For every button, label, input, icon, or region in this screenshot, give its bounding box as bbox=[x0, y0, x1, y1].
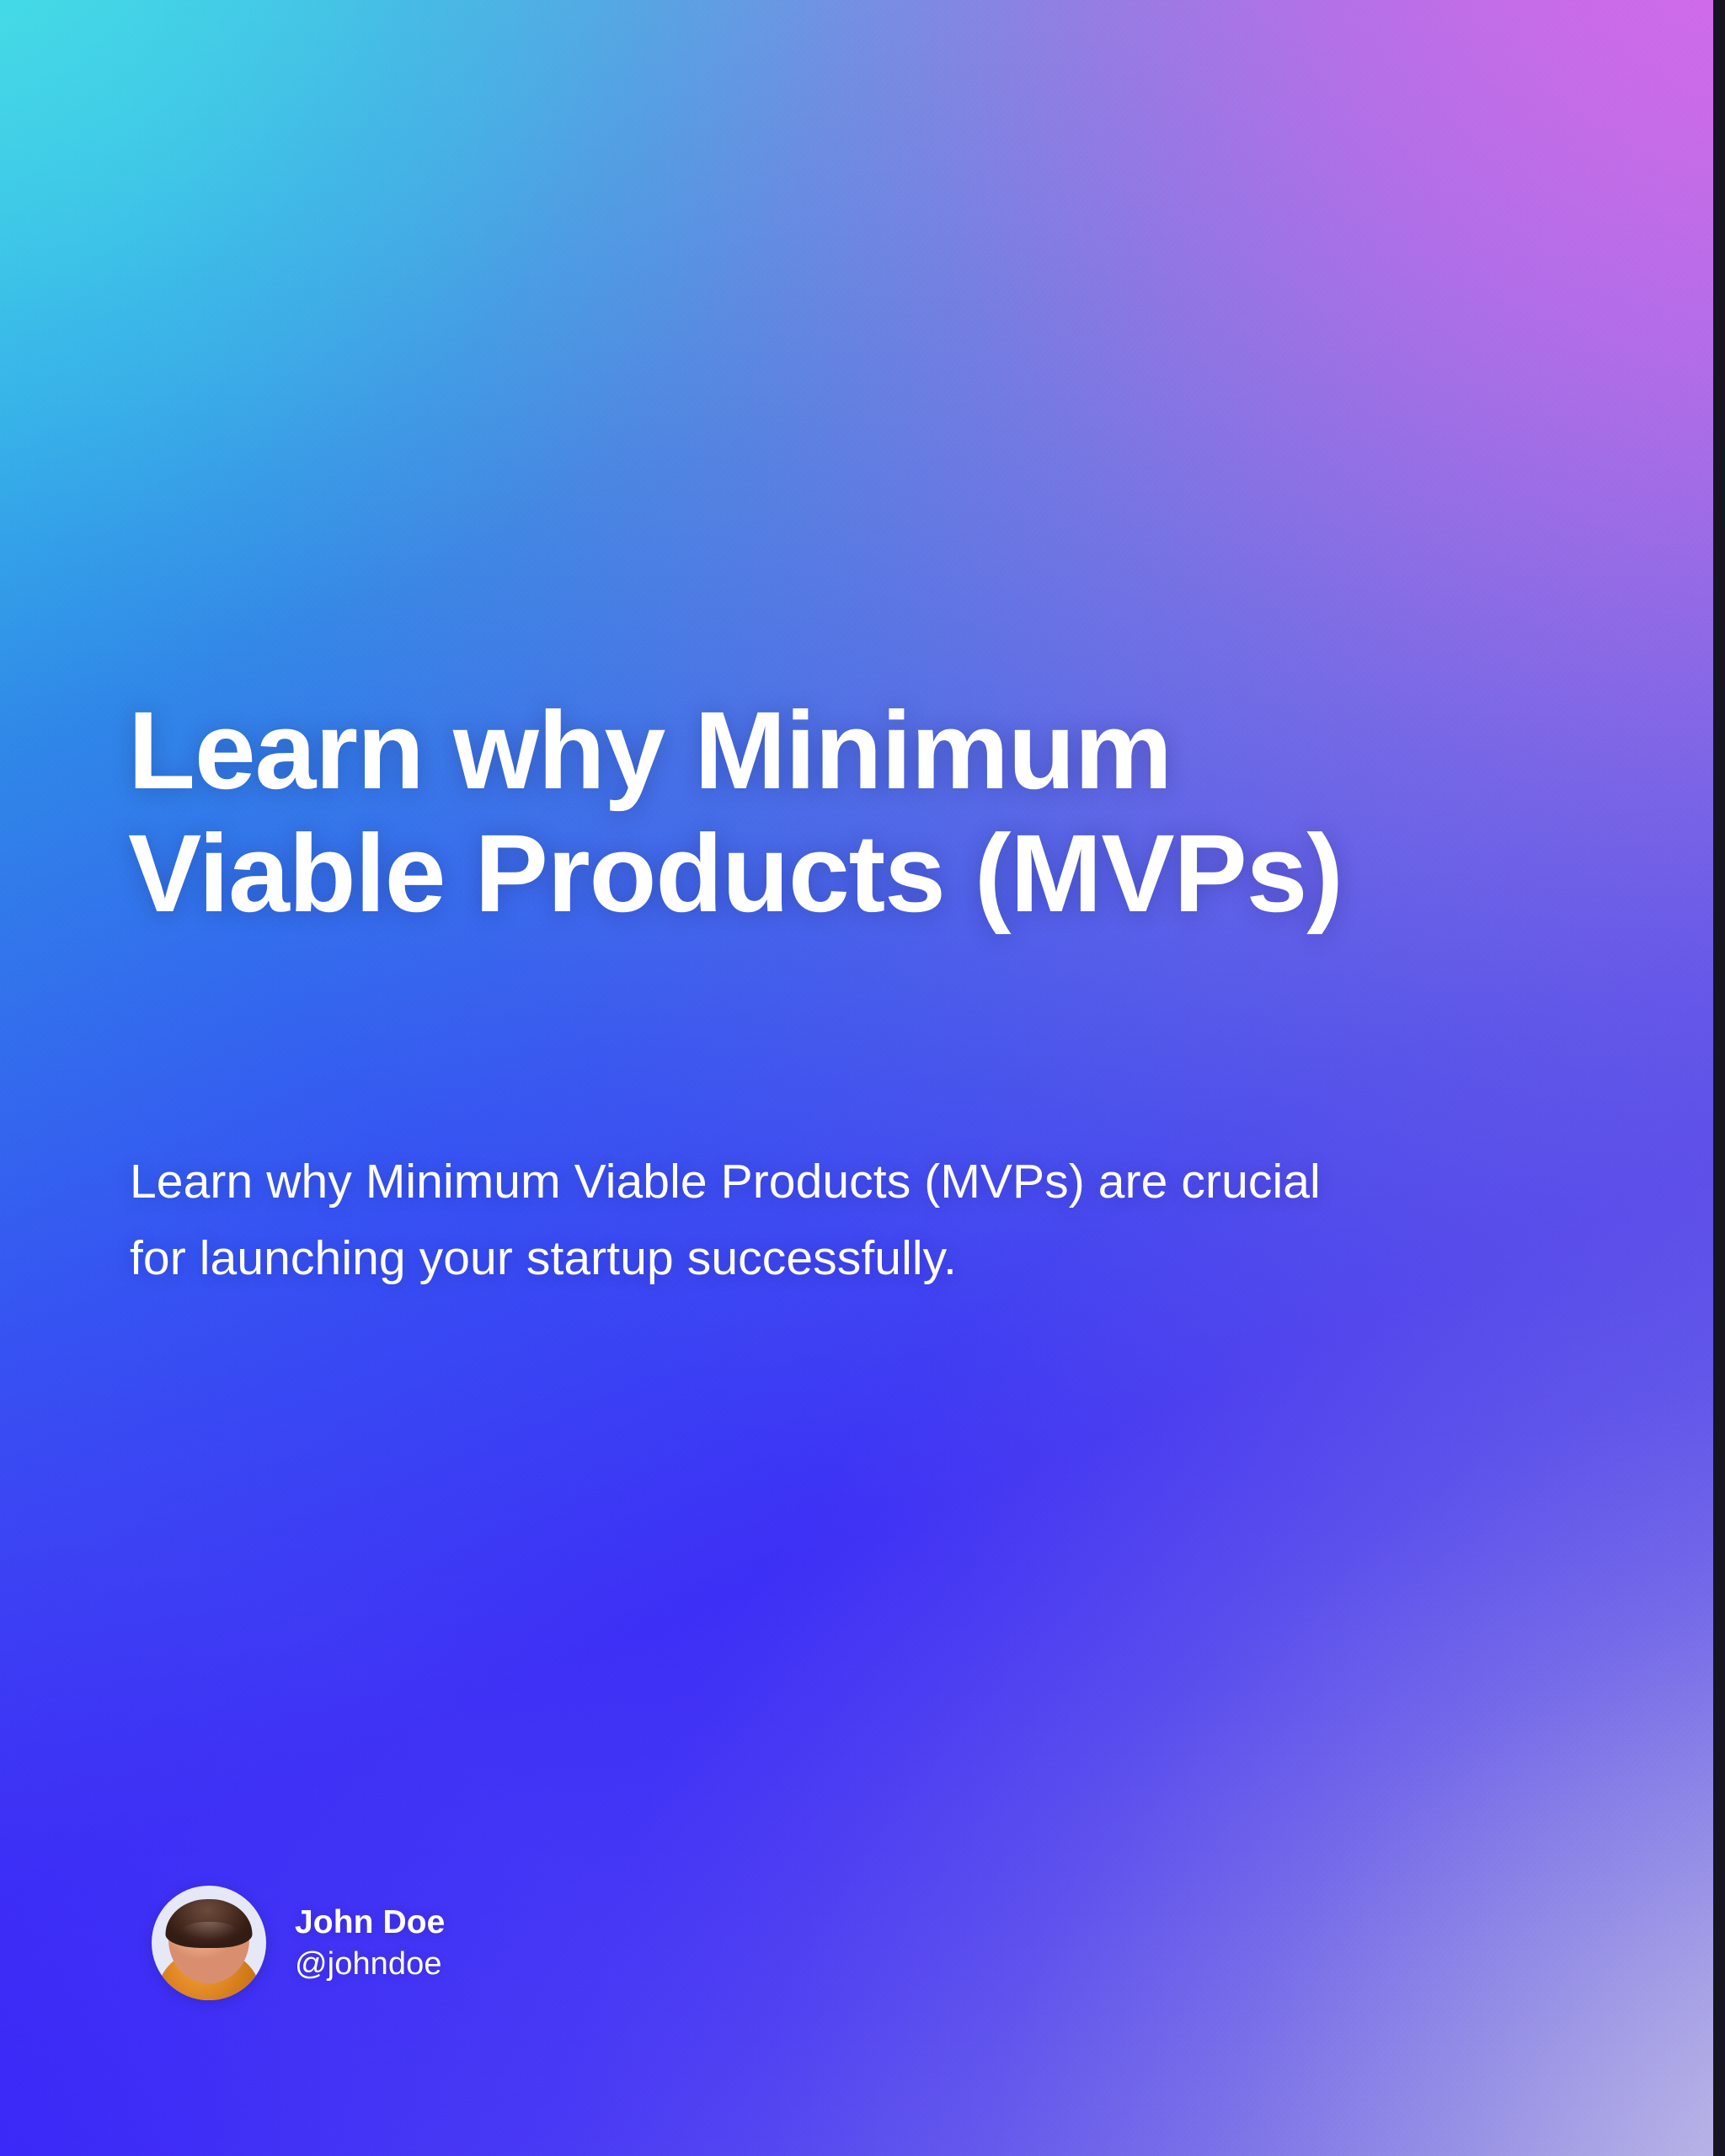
author-handle: @johndoe bbox=[295, 1945, 445, 1983]
page-title: Learn why Minimum Viable Products (MVPs) bbox=[128, 689, 1408, 935]
page-right-edge bbox=[1713, 0, 1725, 2156]
author-byline[interactable]: John Doe @johndoe bbox=[152, 1886, 445, 2000]
avatar-hair-icon bbox=[166, 1899, 253, 1948]
avatar bbox=[152, 1886, 266, 2000]
page-subtitle: Learn why Minimum Viable Products (MVPs)… bbox=[130, 1144, 1326, 1297]
card-content: Learn why Minimum Viable Products (MVPs)… bbox=[128, 0, 1391, 2156]
author-meta: John Doe @johndoe bbox=[295, 1903, 445, 1983]
author-name: John Doe bbox=[295, 1903, 445, 1942]
social-share-card: Learn why Minimum Viable Products (MVPs)… bbox=[0, 0, 1713, 2156]
